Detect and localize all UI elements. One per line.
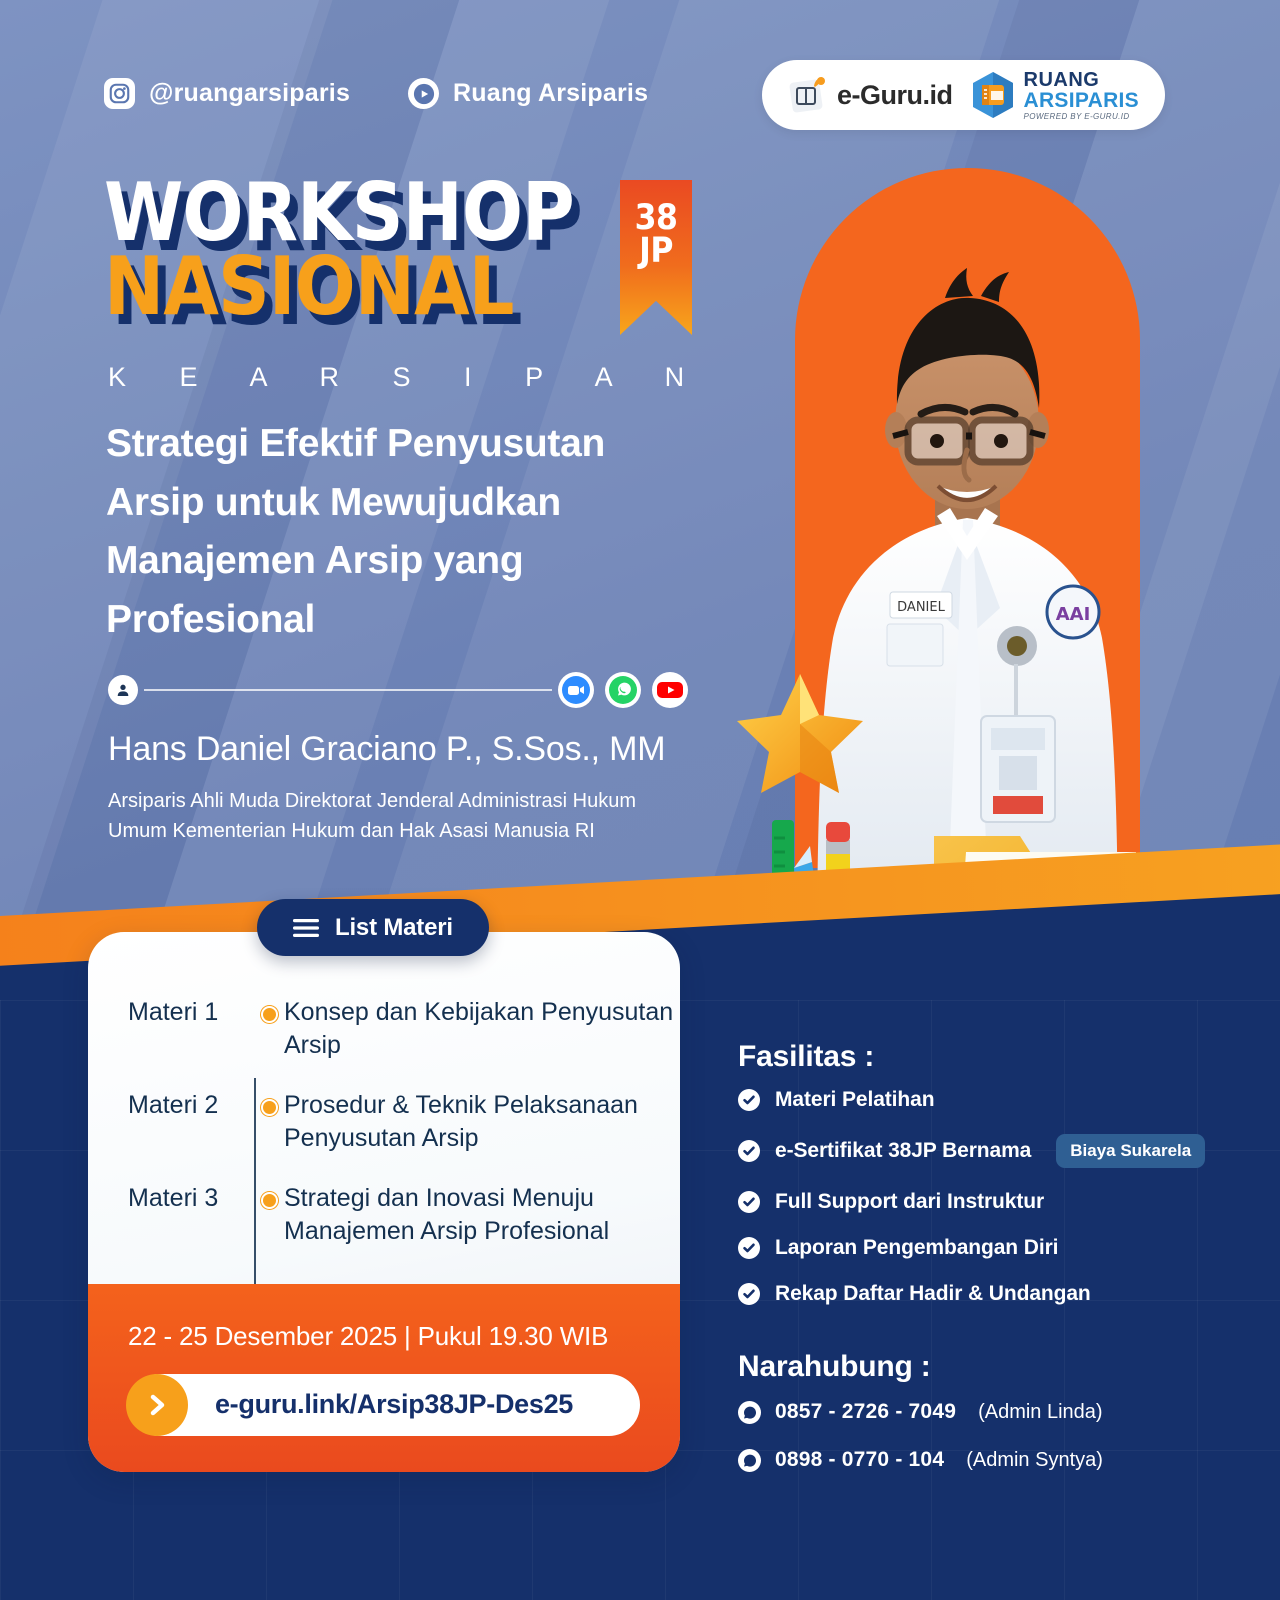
timeline-dot-wrap [254, 1089, 284, 1116]
poster: DANIEL AAI [0, 0, 1280, 1600]
youtube-icon[interactable] [652, 672, 688, 708]
headline-word2: NASIONAL [104, 250, 514, 324]
timeline-dot-icon [261, 1192, 278, 1209]
whatsapp-icon[interactable] [605, 672, 641, 708]
list-materi-card: Materi 1 Konsep dan Kebijakan Penyusutan… [88, 932, 680, 1472]
materi-text: Prosedur & Teknik Pelaksanaan Penyusutan… [284, 1089, 680, 1154]
registration-link-pill[interactable]: e-guru.link/Arsip38JP-Des25 [128, 1374, 640, 1436]
instagram-label: @ruangarsiparis [149, 79, 350, 108]
svg-text:AAI: AAI [1056, 604, 1091, 625]
zoom-icon[interactable] [558, 672, 594, 708]
contact-number: 0857 - 2726 - 7049 [775, 1400, 956, 1424]
jp-badge-number: 38 [635, 202, 678, 235]
list-item[interactable]: 0898 - 0770 - 104 (Admin Syntya) [738, 1448, 1208, 1472]
materi-text: Konsep dan Kebijakan Penyusutan Arsip [284, 996, 680, 1061]
date-band: 22 - 25 Desember 2025 | Pukul 19.30 WIB … [88, 1284, 680, 1472]
youtube-label: Ruang Arsiparis [453, 79, 648, 108]
fasilitas-text: Rekap Daftar Hadir & Undangan [775, 1282, 1091, 1306]
fasilitas-title: Fasilitas : [738, 1040, 874, 1074]
speaker-divider [108, 672, 688, 708]
instagram-icon [104, 78, 135, 109]
chevron-right-icon [126, 1374, 188, 1436]
check-circle-icon [738, 1237, 760, 1259]
list-item: Full Support dari Instruktur [738, 1190, 1208, 1214]
ruang-label-1: RUANG [1024, 70, 1140, 90]
list-item: Rekap Daftar Hadir & Undangan [738, 1282, 1208, 1306]
eguru-logo: e-Guru.id [788, 75, 953, 115]
instagram-handle[interactable]: @ruangarsiparis [104, 78, 350, 109]
youtube-icon [408, 78, 439, 109]
svg-text:DANIEL: DANIEL [897, 600, 945, 615]
list-materi-label: List Materi [335, 914, 453, 942]
brand-logo-badge: e-Guru.id RUANG ARSIPARIS POWERED BY E-G… [762, 60, 1165, 130]
check-circle-icon [738, 1140, 760, 1162]
timeline-dot-wrap [254, 996, 284, 1023]
list-item: Materi 1 Konsep dan Kebijakan Penyusutan… [128, 996, 680, 1061]
contact-admin: (Admin Linda) [978, 1401, 1103, 1424]
list-item: Materi 2 Prosedur & Teknik Pelaksanaan P… [128, 1089, 680, 1154]
list-item[interactable]: 0857 - 2726 - 7049 (Admin Linda) [738, 1400, 1208, 1424]
book-icon [788, 75, 828, 115]
divider-line [144, 689, 552, 691]
fasilitas-text: Laporan Pengembangan Diri [775, 1236, 1058, 1260]
speaker-role: Arsiparis Ahli Muda Direktorat Jenderal … [108, 786, 678, 846]
headline-word1: WORKSHOP [104, 176, 574, 250]
whatsapp-icon [738, 1401, 761, 1424]
speaker-name: Hans Daniel Graciano P., S.Sos., MM [108, 730, 728, 769]
materi-label: Materi 1 [128, 996, 254, 1027]
top-bar: @ruangarsiparis Ruang Arsiparis e-Guru.i… [0, 0, 1280, 150]
timeline-dot-icon [261, 1006, 278, 1023]
check-circle-icon [738, 1089, 760, 1111]
materi-text: Strategi dan Inovasi Menuju Manajemen Ar… [284, 1182, 680, 1247]
narahubung-list: 0857 - 2726 - 7049 (Admin Linda) 0898 - … [738, 1400, 1208, 1496]
fasilitas-list: Materi Pelatihan e-Sertifikat 38JP Berna… [738, 1088, 1208, 1328]
star-3d-decor [735, 668, 865, 793]
headline-block: WORKSHOP WORKSHOP NASIONAL NASIONAL [104, 176, 574, 323]
narahubung-title: Narahubung : [738, 1350, 931, 1384]
list-item: Materi 3 Strategi dan Inovasi Menuju Man… [128, 1182, 680, 1247]
ruang-label-2: ARSIPARIS [1024, 90, 1140, 111]
list-item: Materi Pelatihan [738, 1088, 1208, 1112]
category-label: K E A R S I P A N [108, 362, 707, 393]
list-materi-header: List Materi [257, 899, 489, 956]
event-datetime: 22 - 25 Desember 2025 | Pukul 19.30 WIB [128, 1321, 608, 1352]
materi-label: Materi 3 [128, 1182, 254, 1213]
hamburger-menu-icon [293, 919, 319, 937]
timeline-dot-icon [261, 1099, 278, 1116]
jp-badge-unit: JP [639, 235, 673, 268]
check-circle-icon [738, 1191, 760, 1213]
contact-number: 0898 - 0770 - 104 [775, 1448, 944, 1472]
status-badge: Biaya Sukarela [1056, 1134, 1205, 1168]
list-item: Laporan Pengembangan Diri [738, 1236, 1208, 1260]
ruang-arsiparis-logo: RUANG ARSIPARIS POWERED BY E-GURU.ID [971, 70, 1140, 121]
list-item: e-Sertifikat 38JP Bernama Biaya Sukarela [738, 1134, 1208, 1168]
fasilitas-text: Full Support dari Instruktur [775, 1190, 1044, 1214]
ruang-label-3: POWERED BY E-GURU.ID [1024, 113, 1140, 121]
fasilitas-text: e-Sertifikat 38JP Bernama [775, 1139, 1031, 1163]
materi-label: Materi 2 [128, 1089, 254, 1120]
person-icon [108, 675, 138, 705]
subtitle: Strategi Efektif Penyusutan Arsip untuk … [106, 415, 706, 649]
eguru-label: e-Guru.id [837, 80, 953, 111]
whatsapp-icon [738, 1449, 761, 1472]
folder-hexagon-icon [971, 71, 1015, 119]
fasilitas-text: Materi Pelatihan [775, 1088, 934, 1112]
youtube-handle[interactable]: Ruang Arsiparis [408, 78, 648, 109]
check-circle-icon [738, 1283, 760, 1305]
contact-admin: (Admin Syntya) [966, 1449, 1103, 1472]
registration-link-text: e-guru.link/Arsip38JP-Des25 [188, 1389, 640, 1420]
timeline-dot-wrap [254, 1182, 284, 1209]
materi-items: Materi 1 Konsep dan Kebijakan Penyusutan… [88, 996, 680, 1275]
